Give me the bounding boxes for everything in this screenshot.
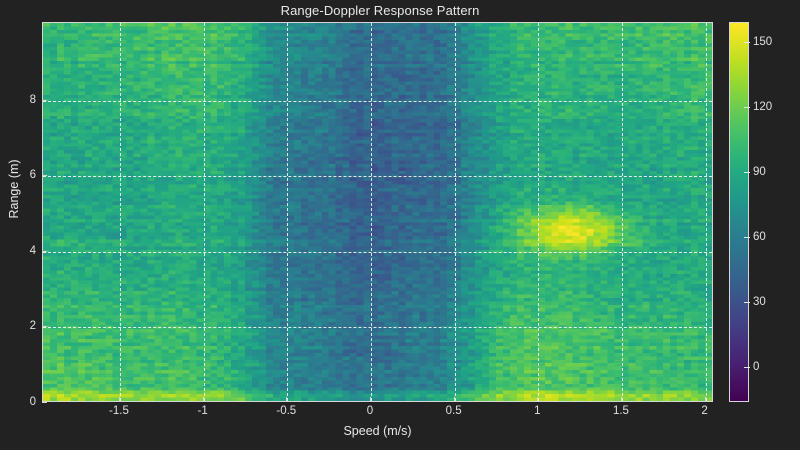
heatmap-axes [42, 22, 713, 402]
x-axis-label: Speed (m/s) [42, 424, 713, 438]
y-tick-mark-0 [42, 402, 47, 403]
colorbar-tick-mark-5 [744, 42, 750, 43]
colorbar-tick-mark-2 [744, 237, 750, 238]
colorbar-tick-mark-4 [744, 107, 750, 108]
colorbar-gradient [730, 23, 748, 401]
y-tick-mark-3 [42, 175, 47, 176]
colorbar-tick-label-150: 150 [753, 36, 772, 48]
x-tick-label--1: -1 [198, 405, 208, 417]
colorbar-tick-mark-1 [744, 302, 750, 303]
x-tick-label--0.5: -0.5 [276, 405, 296, 417]
colorbar-tick-label-90: 90 [753, 166, 766, 178]
range-doppler-heatmap [43, 23, 712, 401]
y-tick-label-2: 2 [8, 320, 36, 332]
colorbar-tick-label-120: 120 [753, 101, 772, 113]
y-tick-mark-1 [42, 326, 47, 327]
x-tick-mark-2 [286, 397, 287, 402]
y-tick-label-0: 0 [8, 396, 36, 408]
x-tick-mark-1 [203, 397, 204, 402]
x-tick-label-0.5: 0.5 [446, 405, 462, 417]
x-tick-label-2: 2 [701, 405, 707, 417]
colorbar-tick-label-0: 0 [753, 361, 759, 373]
y-tick-label-8: 8 [8, 94, 36, 106]
x-tick-label-0: 0 [367, 405, 373, 417]
colorbar [729, 22, 749, 402]
y-tick-mark-4 [42, 100, 47, 101]
colorbar-tick-label-60: 60 [753, 231, 766, 243]
y-tick-mark-2 [42, 251, 47, 252]
x-tick-mark-3 [370, 397, 371, 402]
colorbar-tick-mark-0 [744, 367, 750, 368]
chart-title: Range-Doppler Response Pattern [0, 3, 760, 18]
colorbar-tick-label-30: 30 [753, 296, 766, 308]
radar-range-doppler-figure: Range-Doppler Response Pattern -1.5-1-0.… [0, 0, 800, 450]
x-tick-mark-5 [537, 397, 538, 402]
x-tick-label-1: 1 [534, 405, 540, 417]
x-tick-mark-0 [119, 397, 120, 402]
x-tick-mark-4 [454, 397, 455, 402]
y-axis-label: Range (m) [7, 129, 21, 249]
x-tick-mark-6 [621, 397, 622, 402]
x-tick-label--1.5: -1.5 [109, 405, 129, 417]
x-tick-label-1.5: 1.5 [613, 405, 629, 417]
x-tick-mark-7 [705, 397, 706, 402]
colorbar-tick-mark-3 [744, 172, 750, 173]
